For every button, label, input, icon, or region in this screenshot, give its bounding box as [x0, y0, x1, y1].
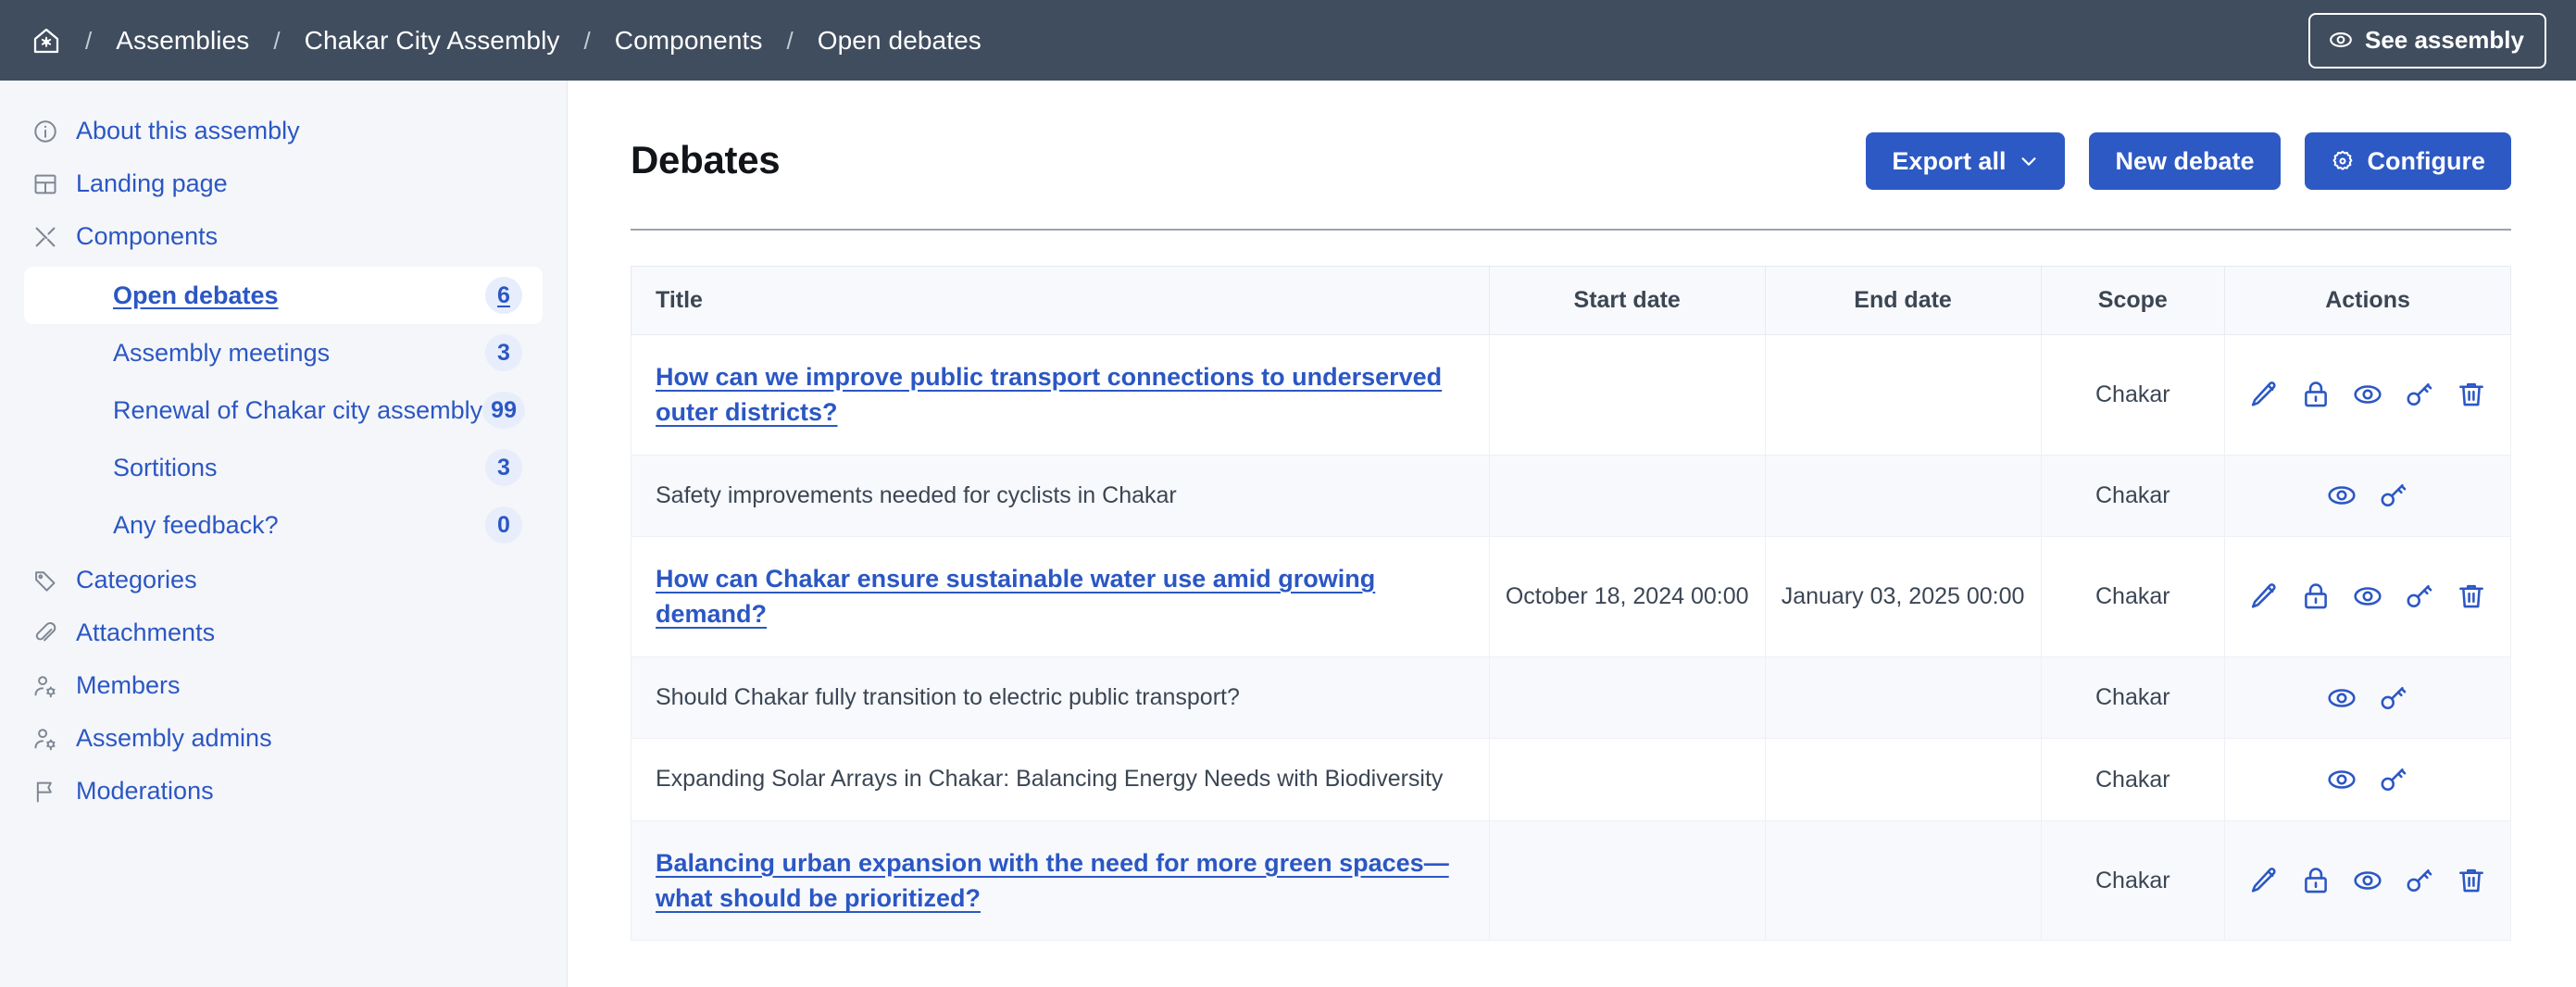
breadcrumb-item-chakar-city-assembly[interactable]: Chakar City Assembly: [305, 26, 560, 56]
top-bar: / Assemblies / Chakar City Assembly / Co…: [0, 0, 2576, 81]
breadcrumb-item-assemblies[interactable]: Assemblies: [116, 26, 249, 56]
key-icon[interactable]: [2377, 763, 2410, 796]
gear-icon: [2331, 149, 2355, 173]
app-shell: About this assembly Landing page Compone…: [0, 81, 2576, 987]
eye-icon: [2329, 28, 2353, 52]
sidebar-item-attachments[interactable]: Attachments: [0, 606, 567, 659]
lock-icon[interactable]: [2299, 580, 2332, 613]
table-row: How can we improve public transport conn…: [631, 335, 2511, 456]
configure-label: Configure: [2368, 147, 2486, 176]
sidebar-subitem-count: 3: [485, 449, 522, 486]
sidebar-item-assembly-admins[interactable]: Assembly admins: [0, 712, 567, 765]
sidebar-item-label: Members: [76, 671, 181, 700]
sidebar-item-label: Attachments: [76, 618, 215, 647]
sidebar-subitem-count: 99: [482, 392, 525, 429]
sidebar-item-categories[interactable]: Categories: [0, 554, 567, 606]
cell-start-date: [1489, 739, 1765, 821]
column-header-actions: Actions: [2225, 267, 2511, 335]
column-header-start-date: Start date: [1489, 267, 1765, 335]
eye-icon[interactable]: [2325, 479, 2358, 512]
action-icon-group: [2231, 378, 2505, 411]
sidebar-item-label: Landing page: [76, 169, 228, 198]
cell-start-date: [1489, 455, 1765, 537]
configure-button[interactable]: Configure: [2305, 132, 2512, 190]
trash-icon[interactable]: [2455, 378, 2488, 411]
cell-end-date: [1765, 739, 2041, 821]
table-row: Safety improvements needed for cyclists …: [631, 455, 2511, 537]
cell-scope: Chakar: [2041, 537, 2225, 657]
page-header: Debates Export all New debate: [631, 132, 2511, 231]
debates-table: Title Start date End date Scope Actions …: [631, 266, 2511, 941]
cell-end-date: [1765, 656, 2041, 739]
sidebar-item-any-feedback[interactable]: Any feedback? 0: [24, 496, 543, 554]
cell-scope: Chakar: [2041, 739, 2225, 821]
breadcrumb-separator-3: /: [560, 29, 615, 53]
cell-actions: [2225, 820, 2511, 941]
sidebar-item-open-debates[interactable]: Open debates 6: [24, 267, 543, 324]
breadcrumb-item-components[interactable]: Components: [615, 26, 763, 56]
cell-start-date: October 18, 2024 00:00: [1489, 537, 1765, 657]
cell-title: Should Chakar fully transition to electr…: [631, 656, 1490, 739]
new-debate-label: New debate: [2115, 147, 2254, 176]
cell-title: Safety improvements needed for cyclists …: [631, 455, 1490, 537]
table-head: Title Start date End date Scope Actions: [631, 267, 2511, 335]
cell-end-date: [1765, 335, 2041, 456]
cell-scope: Chakar: [2041, 656, 2225, 739]
edit-icon[interactable]: [2247, 378, 2281, 411]
sidebar-item-label: Moderations: [76, 777, 214, 806]
sidebar-subitem-label: Sortitions: [113, 454, 218, 482]
action-icon-group: [2231, 681, 2505, 715]
info-circle-icon: [31, 118, 59, 145]
sidebar-item-components[interactable]: Components: [0, 210, 567, 263]
cell-title: Balancing urban expansion with the need …: [631, 820, 1490, 941]
sidebar-item-label: Categories: [76, 566, 197, 594]
cell-end-date: January 03, 2025 00:00: [1765, 537, 2041, 657]
sidebar-item-label: Assembly admins: [76, 724, 272, 753]
sidebar-subitem-label: Open debates: [113, 281, 279, 310]
column-header-end-date: End date: [1765, 267, 2041, 335]
trash-icon[interactable]: [2455, 580, 2488, 613]
eye-icon[interactable]: [2325, 681, 2358, 715]
see-assembly-label: See assembly: [2365, 26, 2524, 55]
flag-icon: [31, 778, 59, 806]
breadcrumb-separator-4: /: [763, 29, 818, 53]
eye-icon[interactable]: [2325, 763, 2358, 796]
breadcrumb-item-open-debates[interactable]: Open debates: [818, 26, 982, 56]
home-gear-icon[interactable]: [31, 26, 61, 56]
cell-scope: Chakar: [2041, 455, 2225, 537]
sidebar-item-about-this-assembly[interactable]: About this assembly: [0, 105, 567, 157]
new-debate-button[interactable]: New debate: [2089, 132, 2280, 190]
user-gear-icon: [31, 725, 59, 753]
action-icon-group: [2231, 864, 2505, 897]
column-header-title: Title: [631, 267, 1490, 335]
cell-scope: Chakar: [2041, 335, 2225, 456]
action-icon-group: [2231, 763, 2505, 796]
trash-icon[interactable]: [2455, 864, 2488, 897]
cell-title: Expanding Solar Arrays in Chakar: Balanc…: [631, 739, 1490, 821]
table-row: Balancing urban expansion with the need …: [631, 820, 2511, 941]
eye-icon[interactable]: [2351, 378, 2384, 411]
debate-title-link[interactable]: Balancing urban expansion with the need …: [656, 849, 1449, 912]
breadcrumb-separator-2: /: [249, 29, 304, 53]
action-icon-group: [2231, 479, 2505, 512]
table-row: Should Chakar fully transition to electr…: [631, 656, 2511, 739]
sidebar-item-label: About this assembly: [76, 117, 300, 145]
key-icon[interactable]: [2403, 864, 2436, 897]
key-icon[interactable]: [2377, 479, 2410, 512]
breadcrumb-separator-1: /: [61, 29, 116, 53]
cell-actions: [2225, 739, 2511, 821]
cell-actions: [2225, 335, 2511, 456]
debate-title-link[interactable]: How can Chakar ensure sustainable water …: [656, 565, 1375, 628]
sidebar-item-assembly-meetings[interactable]: Assembly meetings 3: [24, 324, 543, 381]
paperclip-icon: [31, 619, 59, 647]
cell-end-date: [1765, 820, 2041, 941]
sidebar-subitem-label: Any feedback?: [113, 511, 279, 540]
table-row: How can Chakar ensure sustainable water …: [631, 537, 2511, 657]
sidebar-item-landing-page[interactable]: Landing page: [0, 157, 567, 210]
main-content: Debates Export all New debate: [568, 81, 2576, 987]
cell-start-date: [1489, 656, 1765, 739]
cell-actions: [2225, 656, 2511, 739]
user-gear-icon: [31, 672, 59, 700]
sidebar: About this assembly Landing page Compone…: [0, 81, 568, 987]
page-actions: Export all New debate Configu: [1866, 132, 2511, 190]
key-icon[interactable]: [2403, 580, 2436, 613]
table-row: Expanding Solar Arrays in Chakar: Balanc…: [631, 739, 2511, 821]
cell-start-date: [1489, 820, 1765, 941]
edit-icon[interactable]: [2247, 580, 2281, 613]
tag-icon: [31, 567, 59, 594]
sidebar-item-renewal-of-chakar-city-assembly[interactable]: Renewal of Chakar city assembly 99: [24, 381, 543, 439]
action-icon-group: [2231, 580, 2505, 613]
key-icon[interactable]: [2377, 681, 2410, 715]
debate-title-text: Should Chakar fully transition to electr…: [656, 684, 1240, 710]
cell-end-date: [1765, 455, 2041, 537]
export-all-button[interactable]: Export all: [1866, 132, 2065, 190]
layout-grid-icon: [31, 170, 59, 198]
cell-title: How can Chakar ensure sustainable water …: [631, 537, 1490, 657]
sidebar-item-label: Components: [76, 222, 218, 251]
sidebar-subitem-count: 0: [485, 506, 522, 543]
column-header-scope: Scope: [2041, 267, 2225, 335]
debate-title-text: Expanding Solar Arrays in Chakar: Balanc…: [656, 766, 1443, 792]
breadcrumb: / Assemblies / Chakar City Assembly / Co…: [31, 26, 2308, 56]
lock-icon[interactable]: [2299, 378, 2332, 411]
sidebar-item-sortitions[interactable]: Sortitions 3: [24, 439, 543, 496]
sidebar-subitem-count: 3: [485, 334, 522, 371]
eye-icon[interactable]: [2351, 864, 2384, 897]
sidebar-subnav: Open debates 6 Assembly meetings 3 Renew…: [0, 263, 567, 554]
edit-icon[interactable]: [2247, 864, 2281, 897]
key-icon[interactable]: [2403, 378, 2436, 411]
tools-icon: [31, 223, 59, 251]
sidebar-item-moderations[interactable]: Moderations: [0, 765, 567, 818]
cell-actions: [2225, 537, 2511, 657]
lock-icon[interactable]: [2299, 864, 2332, 897]
export-all-label: Export all: [1892, 147, 2006, 176]
eye-icon[interactable]: [2351, 580, 2384, 613]
cell-title: How can we improve public transport conn…: [631, 335, 1490, 456]
see-assembly-button[interactable]: See assembly: [2308, 13, 2546, 69]
sidebar-subitem-count: 6: [485, 277, 522, 314]
table-header-row: Title Start date End date Scope Actions: [631, 267, 2511, 335]
chevron-down-icon: [2019, 151, 2039, 171]
cell-start-date: [1489, 335, 1765, 456]
sidebar-item-members[interactable]: Members: [0, 659, 567, 712]
cell-scope: Chakar: [2041, 820, 2225, 941]
debates-table-wrap: Title Start date End date Scope Actions …: [631, 266, 2511, 941]
debate-title-text: Safety improvements needed for cyclists …: [656, 482, 1177, 508]
page-title: Debates: [631, 132, 780, 182]
sidebar-subitem-label: Assembly meetings: [113, 339, 330, 368]
debate-title-link[interactable]: How can we improve public transport conn…: [656, 363, 1442, 426]
cell-actions: [2225, 455, 2511, 537]
table-body: How can we improve public transport conn…: [631, 335, 2511, 941]
sidebar-subitem-label: Renewal of Chakar city assembly: [113, 396, 482, 425]
